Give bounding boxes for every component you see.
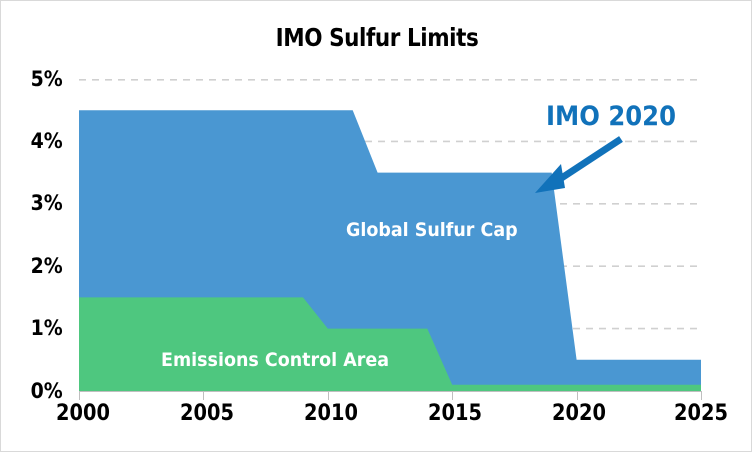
x-axis-line: [79, 391, 701, 392]
y-tick-label-0: 0%: [31, 379, 63, 403]
annotation-imo-2020-label: IMO 2020: [546, 101, 676, 132]
x-tick-2005: [203, 391, 204, 400]
chart-title: IMO Sulfur Limits: [54, 23, 701, 52]
x-tick-label-2020: 2020: [552, 401, 606, 426]
x-tick-label-2000: 2000: [56, 401, 110, 426]
chart-container: IMO Sulfur Limits 5% 4% 3% 2% 1% 0% Glob…: [0, 0, 752, 452]
series-label-emissions-control-area: Emissions Control Area: [161, 349, 389, 371]
x-tick-label-2025: 2025: [674, 401, 728, 426]
x-tick-label-2015: 2015: [428, 401, 482, 426]
x-tick-label-2010: 2010: [304, 401, 358, 426]
annotation-arrow-icon: [521, 136, 631, 196]
y-tick-label-3: 3%: [31, 191, 63, 215]
x-tick-2010: [328, 391, 329, 400]
x-tick-2015: [452, 391, 453, 400]
x-tick-label-2005: 2005: [180, 401, 234, 426]
y-tick-label-4: 4%: [31, 129, 63, 153]
y-tick-label-2: 2%: [31, 254, 63, 278]
x-tick-2000: [79, 391, 80, 400]
y-tick-label-1: 1%: [31, 316, 63, 340]
y-axis: 5% 4% 3% 2% 1% 0%: [1, 1, 71, 452]
y-tick-label-5: 5%: [31, 67, 63, 91]
series-label-global-sulfur-cap: Global Sulfur Cap: [346, 219, 518, 241]
x-tick-2025: [701, 391, 702, 400]
x-tick-2020: [577, 391, 578, 400]
